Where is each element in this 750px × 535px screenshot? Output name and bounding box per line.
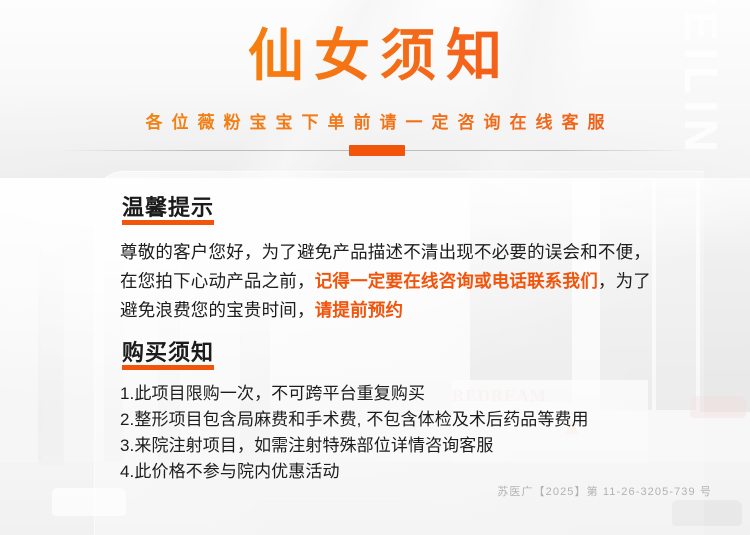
- promo-notice-page: REDREAM SUZHOU WEILIN 仙女须知 各位薇粉宝宝下单前请一定咨…: [0, 0, 750, 535]
- section-heading-purchase: 购买须知: [122, 342, 214, 364]
- section-heading-tips: 温馨提示: [122, 197, 214, 219]
- header-divider-accent: [349, 145, 405, 156]
- purchase-notice-list: 1.此项目限购一次，不可跨平台重复购买 2.整形项目包含局麻费和手术费, 不包含…: [120, 381, 680, 485]
- list-item: 1.此项目限购一次，不可跨平台重复购买: [120, 381, 680, 407]
- list-item: 4.此价格不参与院内优惠活动: [120, 459, 680, 485]
- tips-highlight-2: 请提前预约: [315, 300, 404, 320]
- license-text: 苏医广【2025】第 11-26-3205-739 号: [497, 483, 712, 499]
- list-item: 3.来院注射项目，如需注射特殊部位详情咨询客服: [120, 433, 680, 459]
- tips-paragraph: 尊敬的客户您好，为了避免产品描述不清出现不必要的误会和不便，在您拍下心动产品之前…: [120, 238, 652, 325]
- page-title: 仙女须知: [0, 26, 750, 86]
- tips-highlight-1: 记得一定要在线咨询或电话联系我们: [315, 271, 598, 291]
- list-item: 2.整形项目包含局麻费和手术费, 不包含体检及术后药品等费用: [120, 407, 680, 433]
- page-subtitle: 各位薇粉宝宝下单前请一定咨询在线客服: [0, 108, 750, 133]
